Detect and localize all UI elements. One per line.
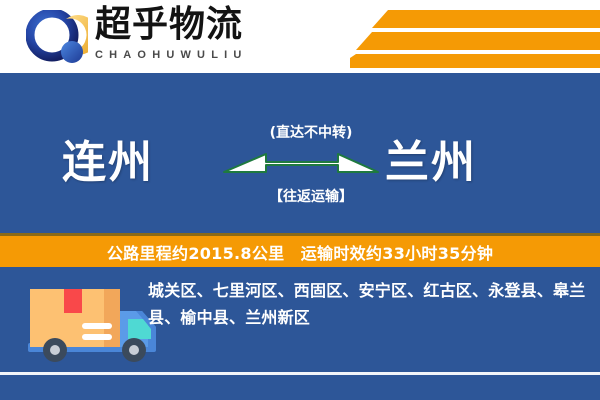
direct-shipping-note: (直达不中转) (246, 122, 376, 142)
origin-city: 连州 (62, 126, 154, 190)
circle-crescent-logo-icon (26, 10, 88, 66)
double-headed-arrow-icon (222, 146, 380, 180)
route-info-bar: 公路里程约2015.8公里 运输时效约33小时35分钟 (0, 236, 600, 267)
brand-name-block: 超乎物流 CHAOHUWULIU (95, 4, 275, 70)
destination-city: 兰州 (385, 126, 477, 190)
delivery-truck-icon (24, 281, 164, 367)
brand-name-cn: 超乎物流 (95, 4, 275, 46)
banner-footer (0, 375, 600, 400)
route-info-text: 公路里程约2015.8公里 运输时效约33小时35分钟 (107, 240, 493, 264)
coverage-districts-text: 城关区、七里河区、西固区、安宁区、红古区、永登县、皋兰县、榆中县、兰州新区 (148, 277, 588, 331)
brand-name-en: CHAOHUWULIU (95, 48, 275, 62)
logistics-route-banner: 超乎物流 CHAOHUWULIU 连州 (直达不中转) 【往返运输】 兰州 公路… (0, 0, 600, 400)
banner-header: 超乎物流 CHAOHUWULIU (0, 0, 600, 73)
roundtrip-note: 【往返运输】 (246, 186, 376, 206)
orange-diagonal-stripes-icon (350, 6, 600, 68)
